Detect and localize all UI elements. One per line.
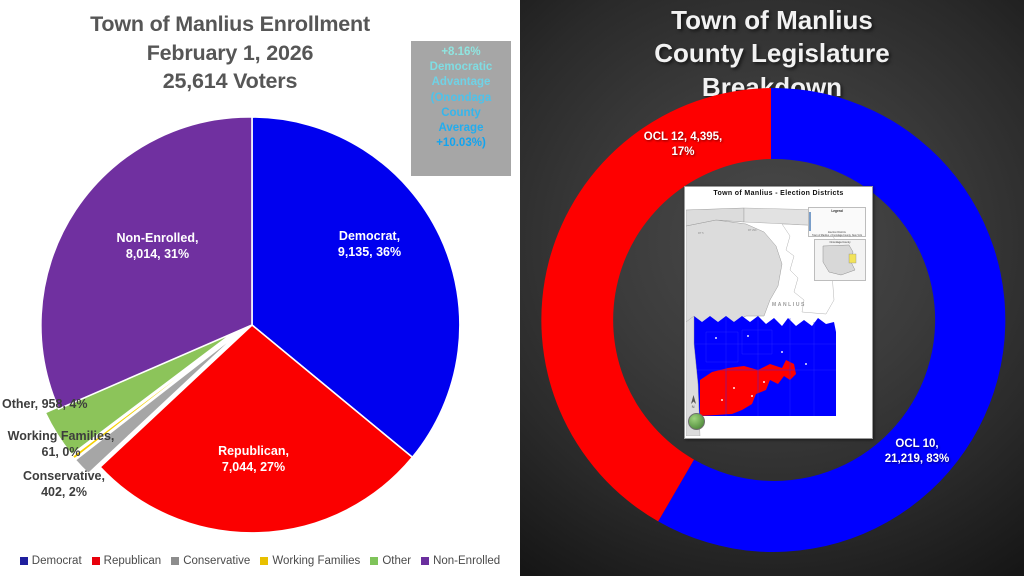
legend-swatch-working-families (260, 557, 268, 565)
pie-label-other: Other, 958, 4% (2, 396, 120, 412)
legend-label-democrat: Democrat (32, 555, 82, 567)
pie-label-republican-name: Republican, (196, 443, 311, 459)
pie-label-other-text: Other, 958, 4% (2, 396, 120, 412)
compass-rose-icon (688, 413, 705, 430)
legend-item-democrat[interactable]: Democrat (20, 555, 82, 567)
legend-swatch-republican (92, 557, 100, 565)
donut-label-ocl10-line2: 21,219, 83% (857, 452, 977, 467)
pie-label-non-enrolled-name: Non-Enrolled, (95, 230, 220, 246)
pie-label-conservative-name: Conservative, (8, 468, 120, 484)
map-title: Town of Manlius - Election Districts (685, 190, 872, 197)
pie-legend: Democrat Republican Conservative Working… (0, 555, 520, 567)
map-inset-title: Onondaga County (815, 241, 865, 244)
map-legend-swatch (809, 212, 811, 231)
pie-label-non-enrolled-value: 8,014, 31% (95, 246, 220, 262)
map-inset-graphic (815, 240, 865, 280)
slide-root: Town of Manlius Enrollment February 1, 2… (0, 0, 1024, 576)
legend-label-non-enrolled: Non-Enrolled (433, 555, 500, 567)
donut-label-ocl12-line1: OCL 12, 4,395, (623, 130, 743, 145)
donut-label-ocl12: OCL 12, 4,395, 17% (623, 130, 743, 160)
svg-text:RT 5: RT 5 (698, 231, 704, 235)
svg-text:RT 290: RT 290 (748, 228, 757, 232)
north-arrow-icon: N (689, 395, 698, 408)
pie-label-republican-value: 7,044, 27% (196, 459, 311, 475)
enrollment-pie-chart: Non-Enrolled, 8,014, 31% Democrat, 9,135… (0, 0, 520, 545)
pie-label-non-enrolled: Non-Enrolled, 8,014, 31% (95, 230, 220, 262)
pie-label-conservative: Conservative, 402, 2% (8, 468, 120, 500)
legend-swatch-other (370, 557, 378, 565)
map-canvas: RT 5RT 290 MANLIUS Legend Election Distr… (686, 204, 871, 436)
map-legend-title: Legend (809, 209, 865, 213)
pie-label-democrat-name: Democrat, (312, 228, 427, 244)
legend-item-conservative[interactable]: Conservative (171, 555, 250, 567)
pie-label-republican: Republican, 7,044, 27% (196, 443, 311, 475)
enrollment-panel: Town of Manlius Enrollment February 1, 2… (0, 0, 520, 576)
legend-item-republican[interactable]: Republican (92, 555, 162, 567)
legend-label-conservative: Conservative (183, 555, 250, 567)
legend-item-other[interactable]: Other (370, 555, 411, 567)
pie-label-democrat: Democrat, 9,135, 36% (312, 228, 427, 260)
legend-label-other: Other (382, 555, 411, 567)
election-districts-map[interactable]: Town of Manlius - Election Districts (684, 186, 873, 439)
legend-item-non-enrolled[interactable]: Non-Enrolled (421, 555, 500, 567)
pie-label-working-families: Working Families, 61, 0% (2, 428, 120, 460)
legend-label-working-families: Working Families (272, 555, 360, 567)
donut-label-ocl10: OCL 10, 21,219, 83% (857, 437, 977, 467)
legend-swatch-non-enrolled (421, 557, 429, 565)
legislature-panel: Town of Manlius County Legislature Break… (520, 0, 1024, 576)
legend-swatch-democrat (20, 557, 28, 565)
map-place-label: MANLIUS (772, 302, 806, 308)
pie-label-working-families-value: 61, 0% (2, 444, 120, 460)
pie-label-working-families-name: Working Families, (2, 428, 120, 444)
pie-label-democrat-value: 9,135, 36% (312, 244, 427, 260)
map-legend-note: Town of Manlius • Onondaga County, New Y… (809, 234, 865, 237)
svg-text:N: N (692, 404, 695, 408)
map-legend: Legend Election Districts Town of Manliu… (808, 207, 866, 237)
donut-label-ocl12-line2: 17% (623, 145, 743, 160)
pie-label-conservative-value: 402, 2% (8, 484, 120, 500)
legend-item-working-families[interactable]: Working Families (260, 555, 360, 567)
donut-label-ocl10-line1: OCL 10, (857, 437, 977, 452)
legend-swatch-conservative (171, 557, 179, 565)
map-inset-locator: Onondaga County (814, 239, 866, 281)
legend-label-republican: Republican (104, 555, 162, 567)
